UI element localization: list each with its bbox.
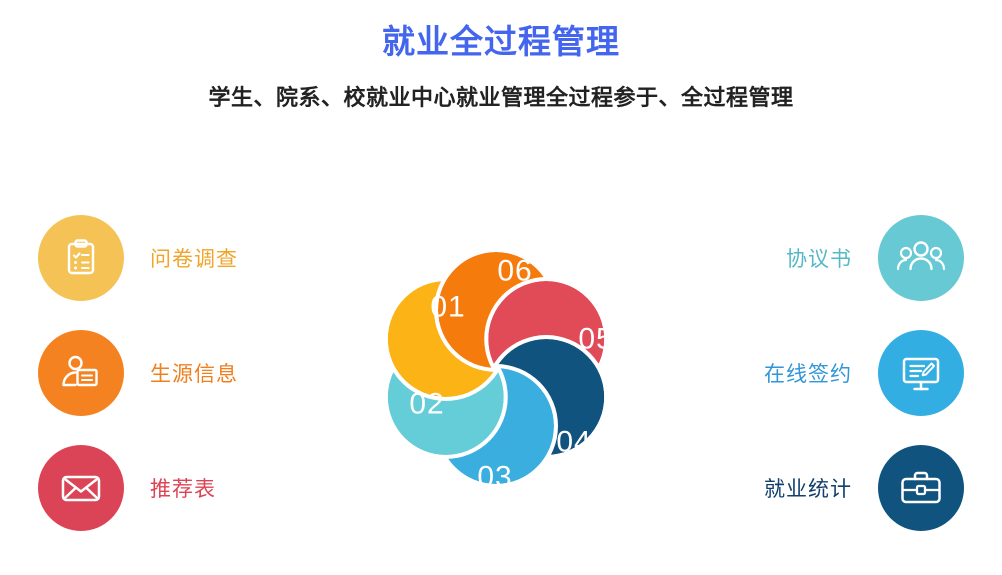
envelope-icon <box>57 464 105 512</box>
clipboard-checklist-icon <box>59 236 103 280</box>
pinwheel-petal-06[interactable] <box>388 339 504 455</box>
questionnaire-icon-bubble <box>38 215 124 301</box>
feature-label-employment-statistics: 就业统计 <box>764 473 852 503</box>
feature-item-questionnaire[interactable]: 问卷调查 <box>38 215 338 301</box>
feature-label-student-source: 生源信息 <box>150 358 238 388</box>
people-group-icon <box>896 235 946 281</box>
petal-number-03: 03 <box>477 461 512 494</box>
feature-label-recommendation-form: 推荐表 <box>150 473 216 503</box>
left-feature-column: 问卷调查 生源信息 <box>38 215 338 560</box>
feature-item-student-source[interactable]: 生源信息 <box>38 330 338 416</box>
petal-number-06: 06 <box>497 255 532 288</box>
briefcase-icon <box>897 466 945 510</box>
pinwheel-diagram: 010203040506 <box>325 205 677 555</box>
right-feature-column: 协议书 在线签约 <box>664 215 964 560</box>
feature-item-agreement[interactable]: 协议书 <box>664 215 964 301</box>
petal-number-05: 05 <box>578 323 613 356</box>
feature-label-online-signing: 在线签约 <box>764 358 852 388</box>
pinwheel-svg: 010203040506 <box>325 205 677 555</box>
monitor-pen-icon <box>897 350 945 396</box>
feature-label-questionnaire: 问卷调查 <box>150 243 238 273</box>
recommendation-icon-bubble <box>38 445 124 531</box>
feature-item-employment-statistics[interactable]: 就业统计 <box>664 445 964 531</box>
feature-item-recommendation-form[interactable]: 推荐表 <box>38 445 338 531</box>
petal-number-01: 01 <box>430 291 465 324</box>
feature-item-online-signing[interactable]: 在线签约 <box>664 330 964 416</box>
page-subtitle: 学生、院系、校就业中心就业管理全过程参于、全过程管理 <box>0 84 1002 113</box>
employment-statistics-icon-bubble <box>878 445 964 531</box>
feature-label-agreement: 协议书 <box>786 243 852 273</box>
page-header: 就业全过程管理 学生、院系、校就业中心就业管理全过程参于、全过程管理 <box>0 0 1002 112</box>
page-title: 就业全过程管理 <box>0 22 1002 62</box>
online-signing-icon-bubble <box>878 330 964 416</box>
student-source-icon-bubble <box>38 330 124 416</box>
agreement-icon-bubble <box>878 215 964 301</box>
person-id-card-icon <box>58 350 104 396</box>
petal-number-04: 04 <box>556 426 591 459</box>
petal-number-02: 02 <box>409 388 444 421</box>
